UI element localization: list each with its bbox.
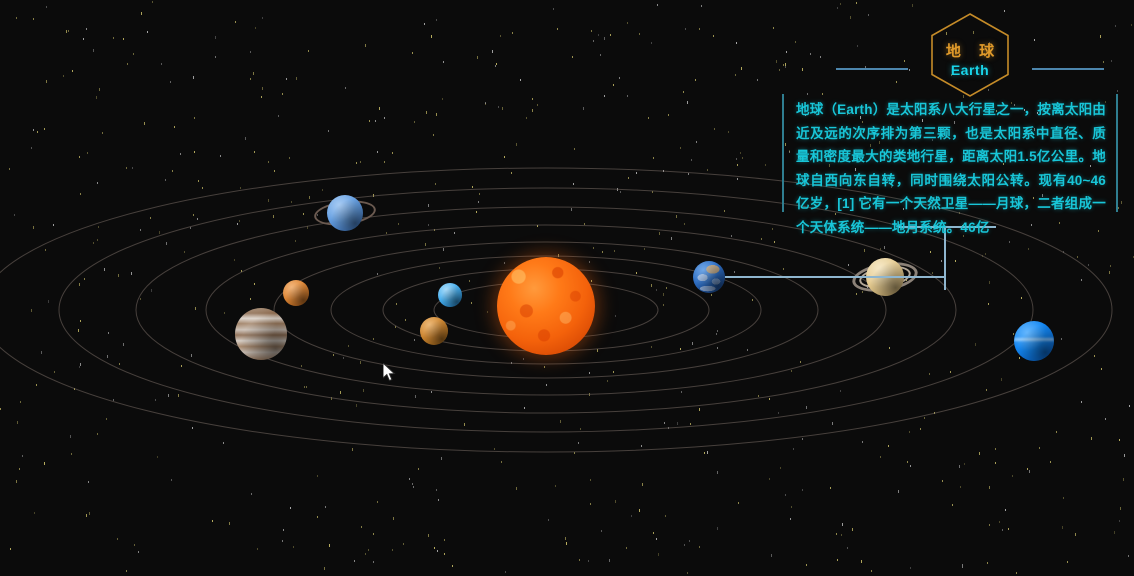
solar-system-app: 地 球 Earth 地球（Earth）是太阳系八大行星之一，按离太阳由近及远的次… — [0, 0, 1134, 576]
earth-description-panel: 地球（Earth）是太阳系八大行星之一，按离太阳由近及远的次序排为第三颗，也是太… — [782, 94, 1118, 212]
badge-title-en: Earth — [929, 62, 1011, 78]
hexagon-frame: 地 球 Earth — [929, 12, 1011, 98]
badge-title-cn: 地 球 — [929, 40, 1011, 61]
badge-rule-right — [1032, 68, 1104, 70]
earth-title-badge: 地 球 Earth — [820, 12, 1120, 98]
earth-description-text: 地球（Earth）是太阳系八大行星之一，按离太阳由近及远的次序排为第三颗，也是太… — [796, 98, 1106, 239]
mouse-cursor — [383, 363, 397, 383]
leader-line-horizontal-lower — [725, 276, 945, 278]
badge-rule-left — [836, 68, 908, 70]
